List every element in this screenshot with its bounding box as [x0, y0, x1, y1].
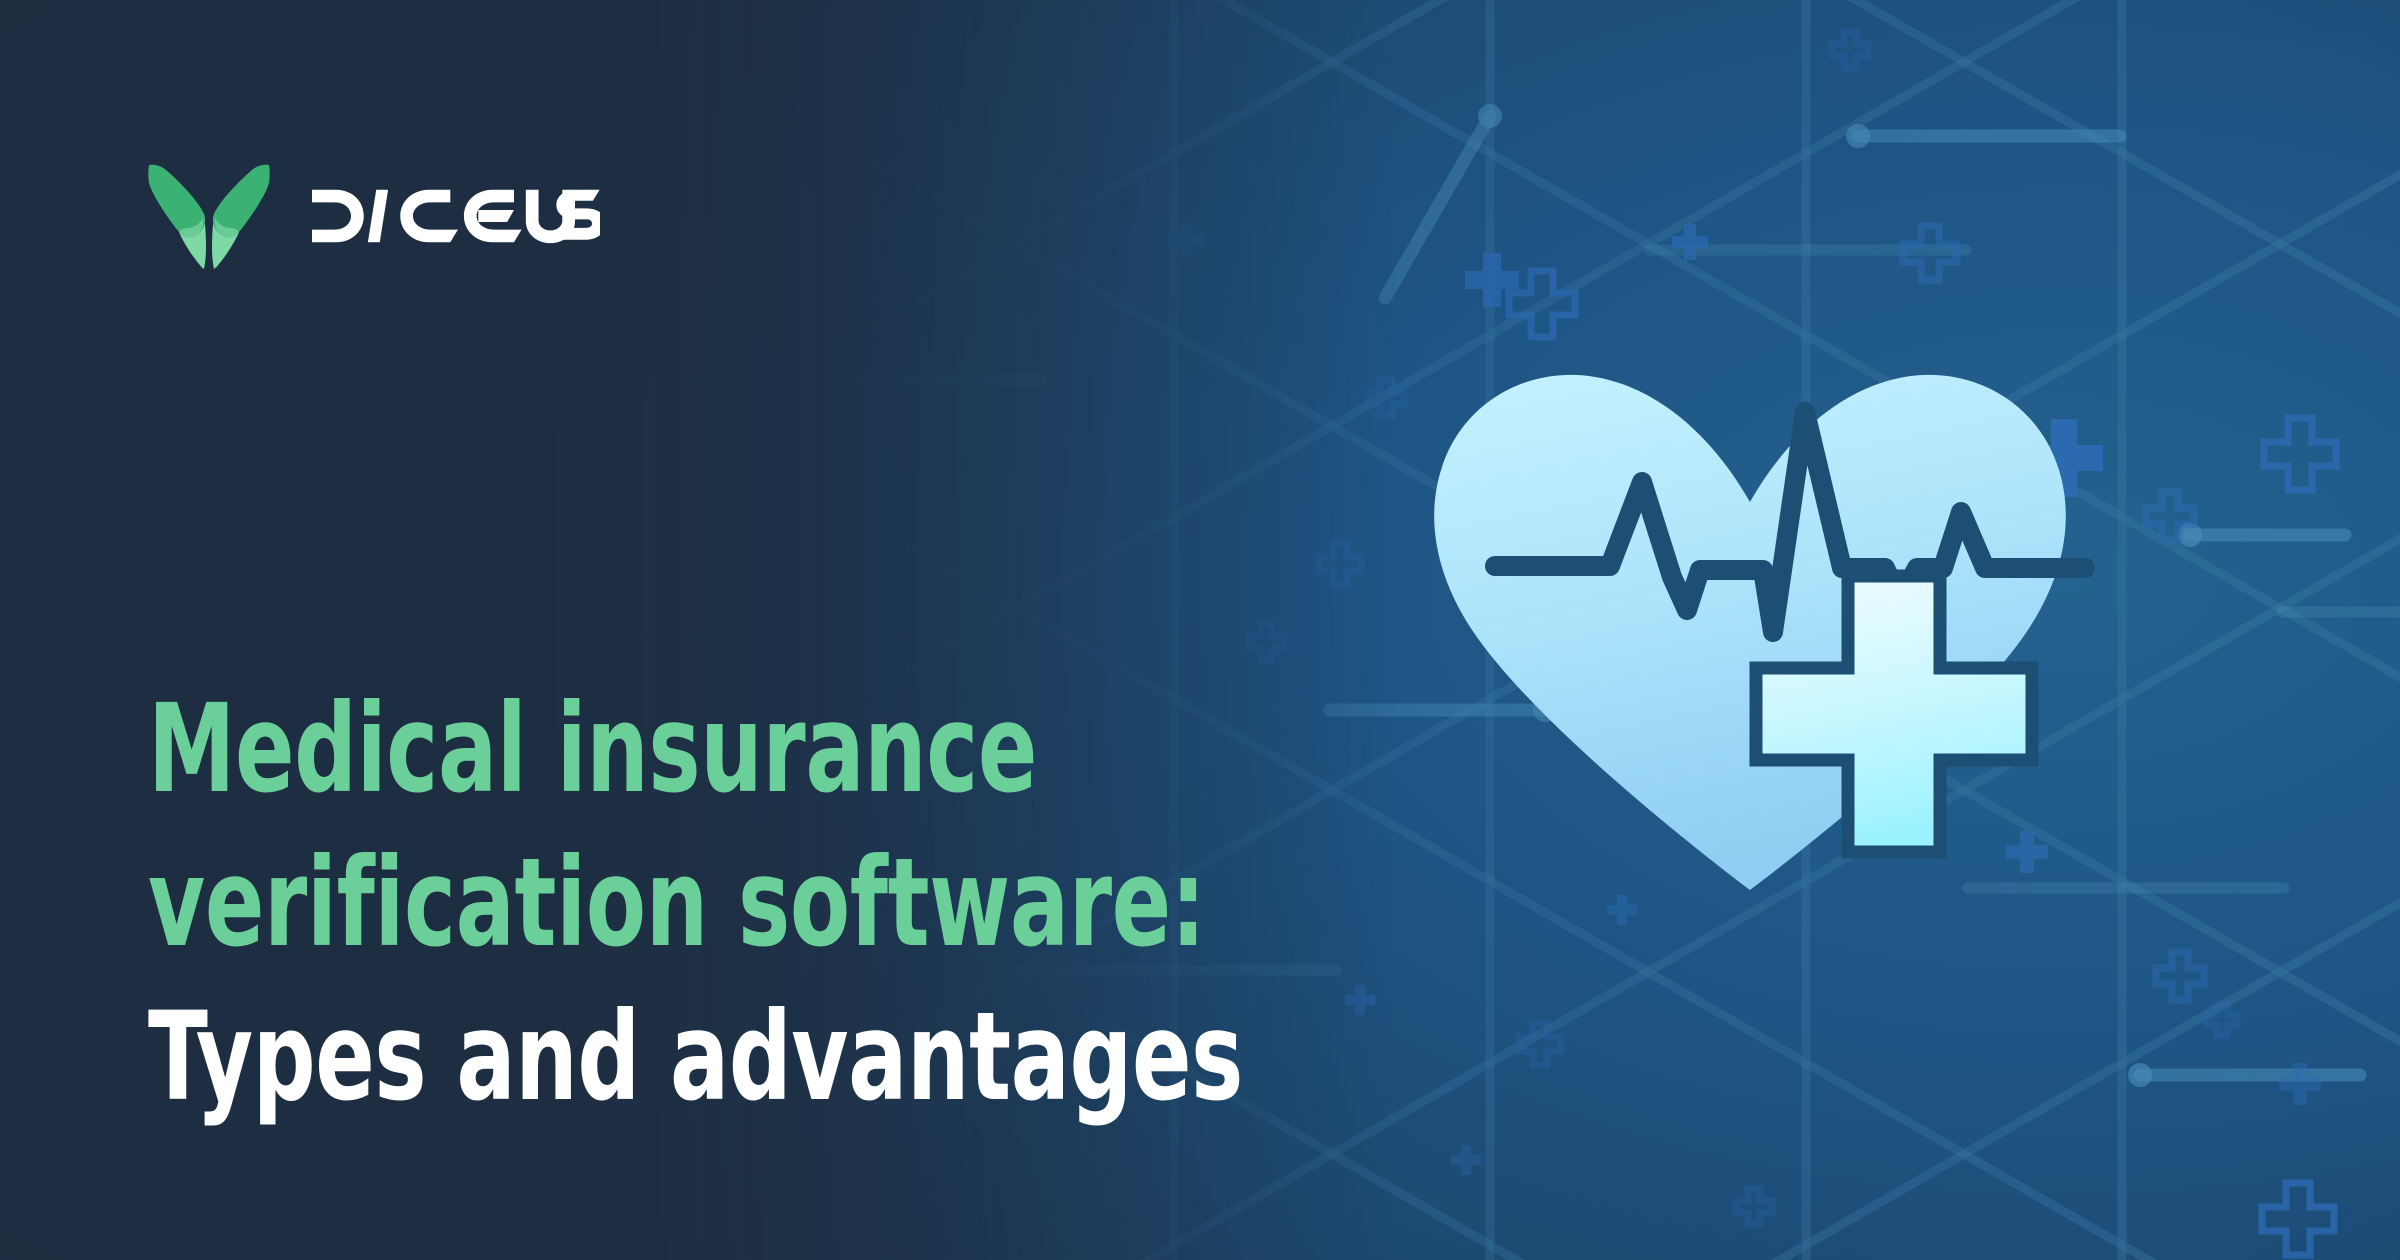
heart-illustration [1395, 290, 2125, 950]
diceus-logo[interactable] [146, 160, 600, 272]
banner-canvas: Medical insurance verification software:… [0, 0, 2400, 1260]
headline-line-1: Medical insurance [148, 672, 1188, 826]
heart-shape [1434, 375, 2066, 890]
headline-block: Medical insurance verification software:… [148, 672, 1448, 1134]
diceus-wordmark [312, 188, 600, 244]
headline-line-2: verification software: [148, 826, 1188, 980]
diceus-butterfly-mark-icon [146, 160, 272, 272]
headline-line-3: Types and advantages [148, 980, 1188, 1134]
